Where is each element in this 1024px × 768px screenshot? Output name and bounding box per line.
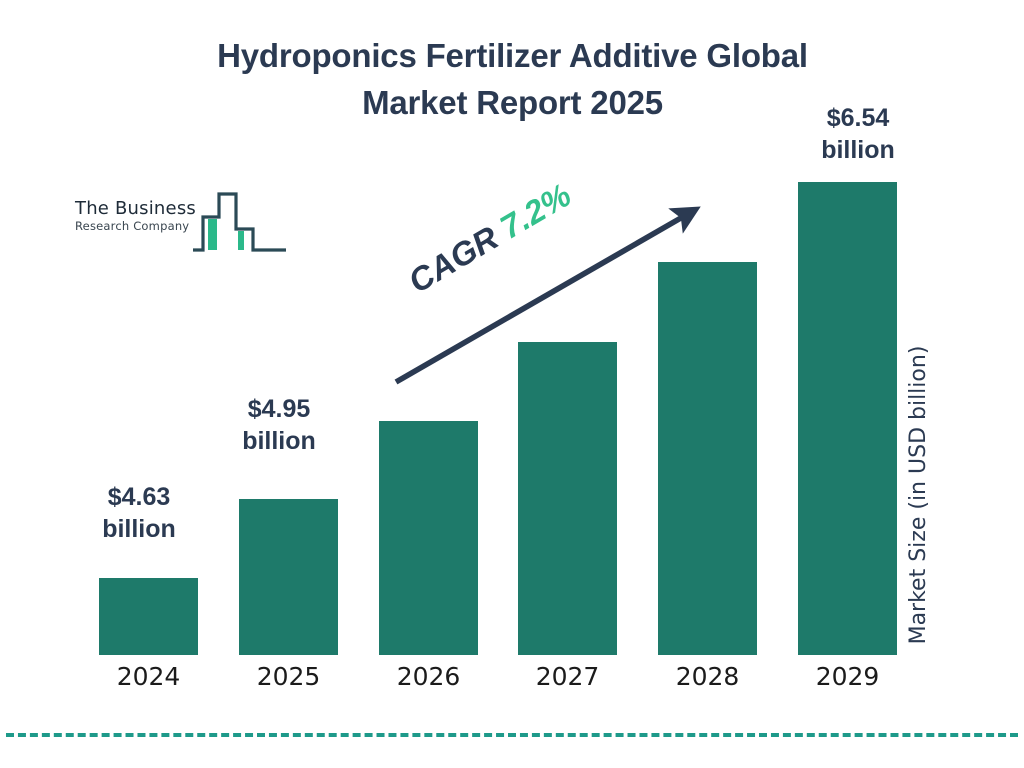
cagr-arrow-icon (0, 0, 1024, 768)
bottom-divider (6, 733, 1018, 737)
y-axis-title-text: Market Size (in USD billion) (906, 330, 931, 660)
bar-chart-plot: $4.63 billion $4.95 billion $6.54 billio… (0, 0, 1024, 768)
chart-page: Hydroponics Fertilizer Additive Global M… (0, 0, 1024, 768)
